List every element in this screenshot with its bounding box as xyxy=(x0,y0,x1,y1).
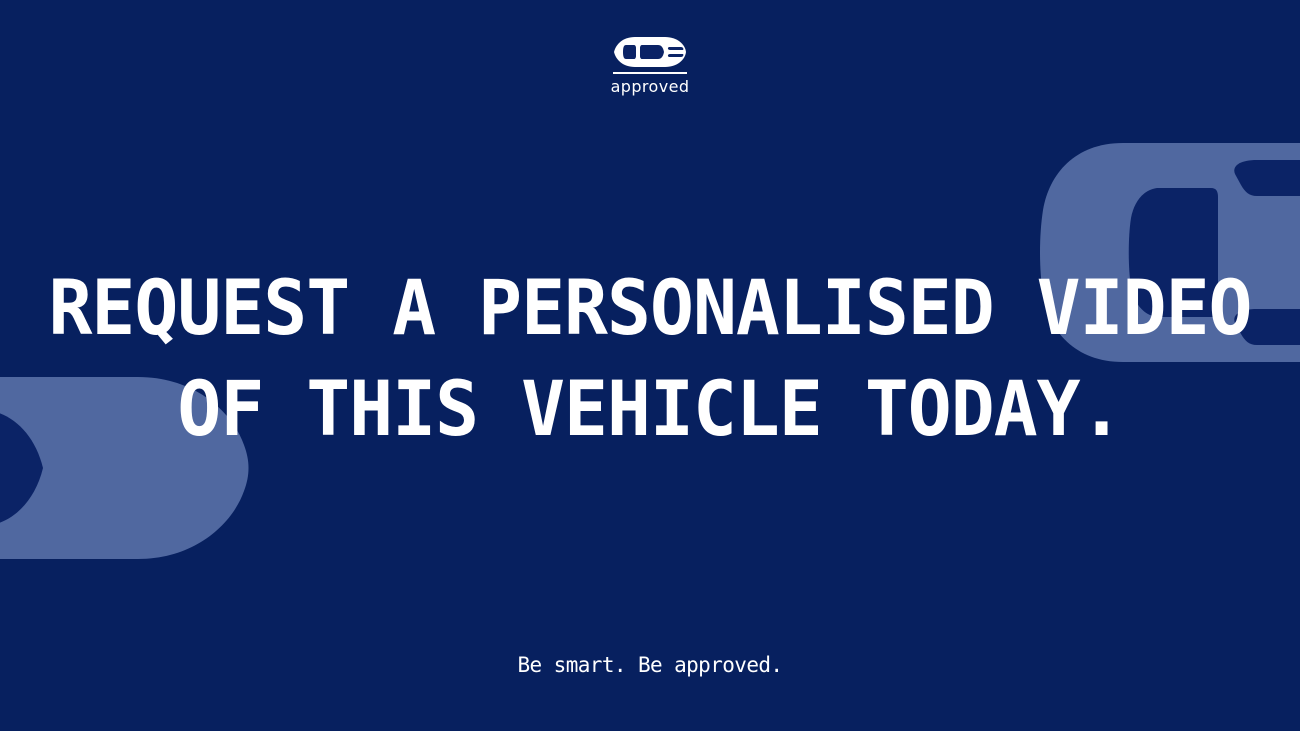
headline-line-2: OF THIS VEHICLE TODAY. xyxy=(26,369,1274,448)
car-top-view-icon xyxy=(613,36,687,68)
brand-logo: approved xyxy=(0,36,1300,95)
page-title: REQUEST A PERSONALISED VIDEO OF THIS VEH… xyxy=(0,268,1300,448)
brand-wordmark: approved xyxy=(611,79,690,95)
promo-banner: approved REQUEST A PERSONALISED VIDEO OF… xyxy=(0,0,1300,731)
tagline: Be smart. Be approved. xyxy=(0,655,1300,676)
headline-line-1: REQUEST A PERSONALISED VIDEO xyxy=(26,268,1274,347)
brand-divider xyxy=(613,72,687,74)
